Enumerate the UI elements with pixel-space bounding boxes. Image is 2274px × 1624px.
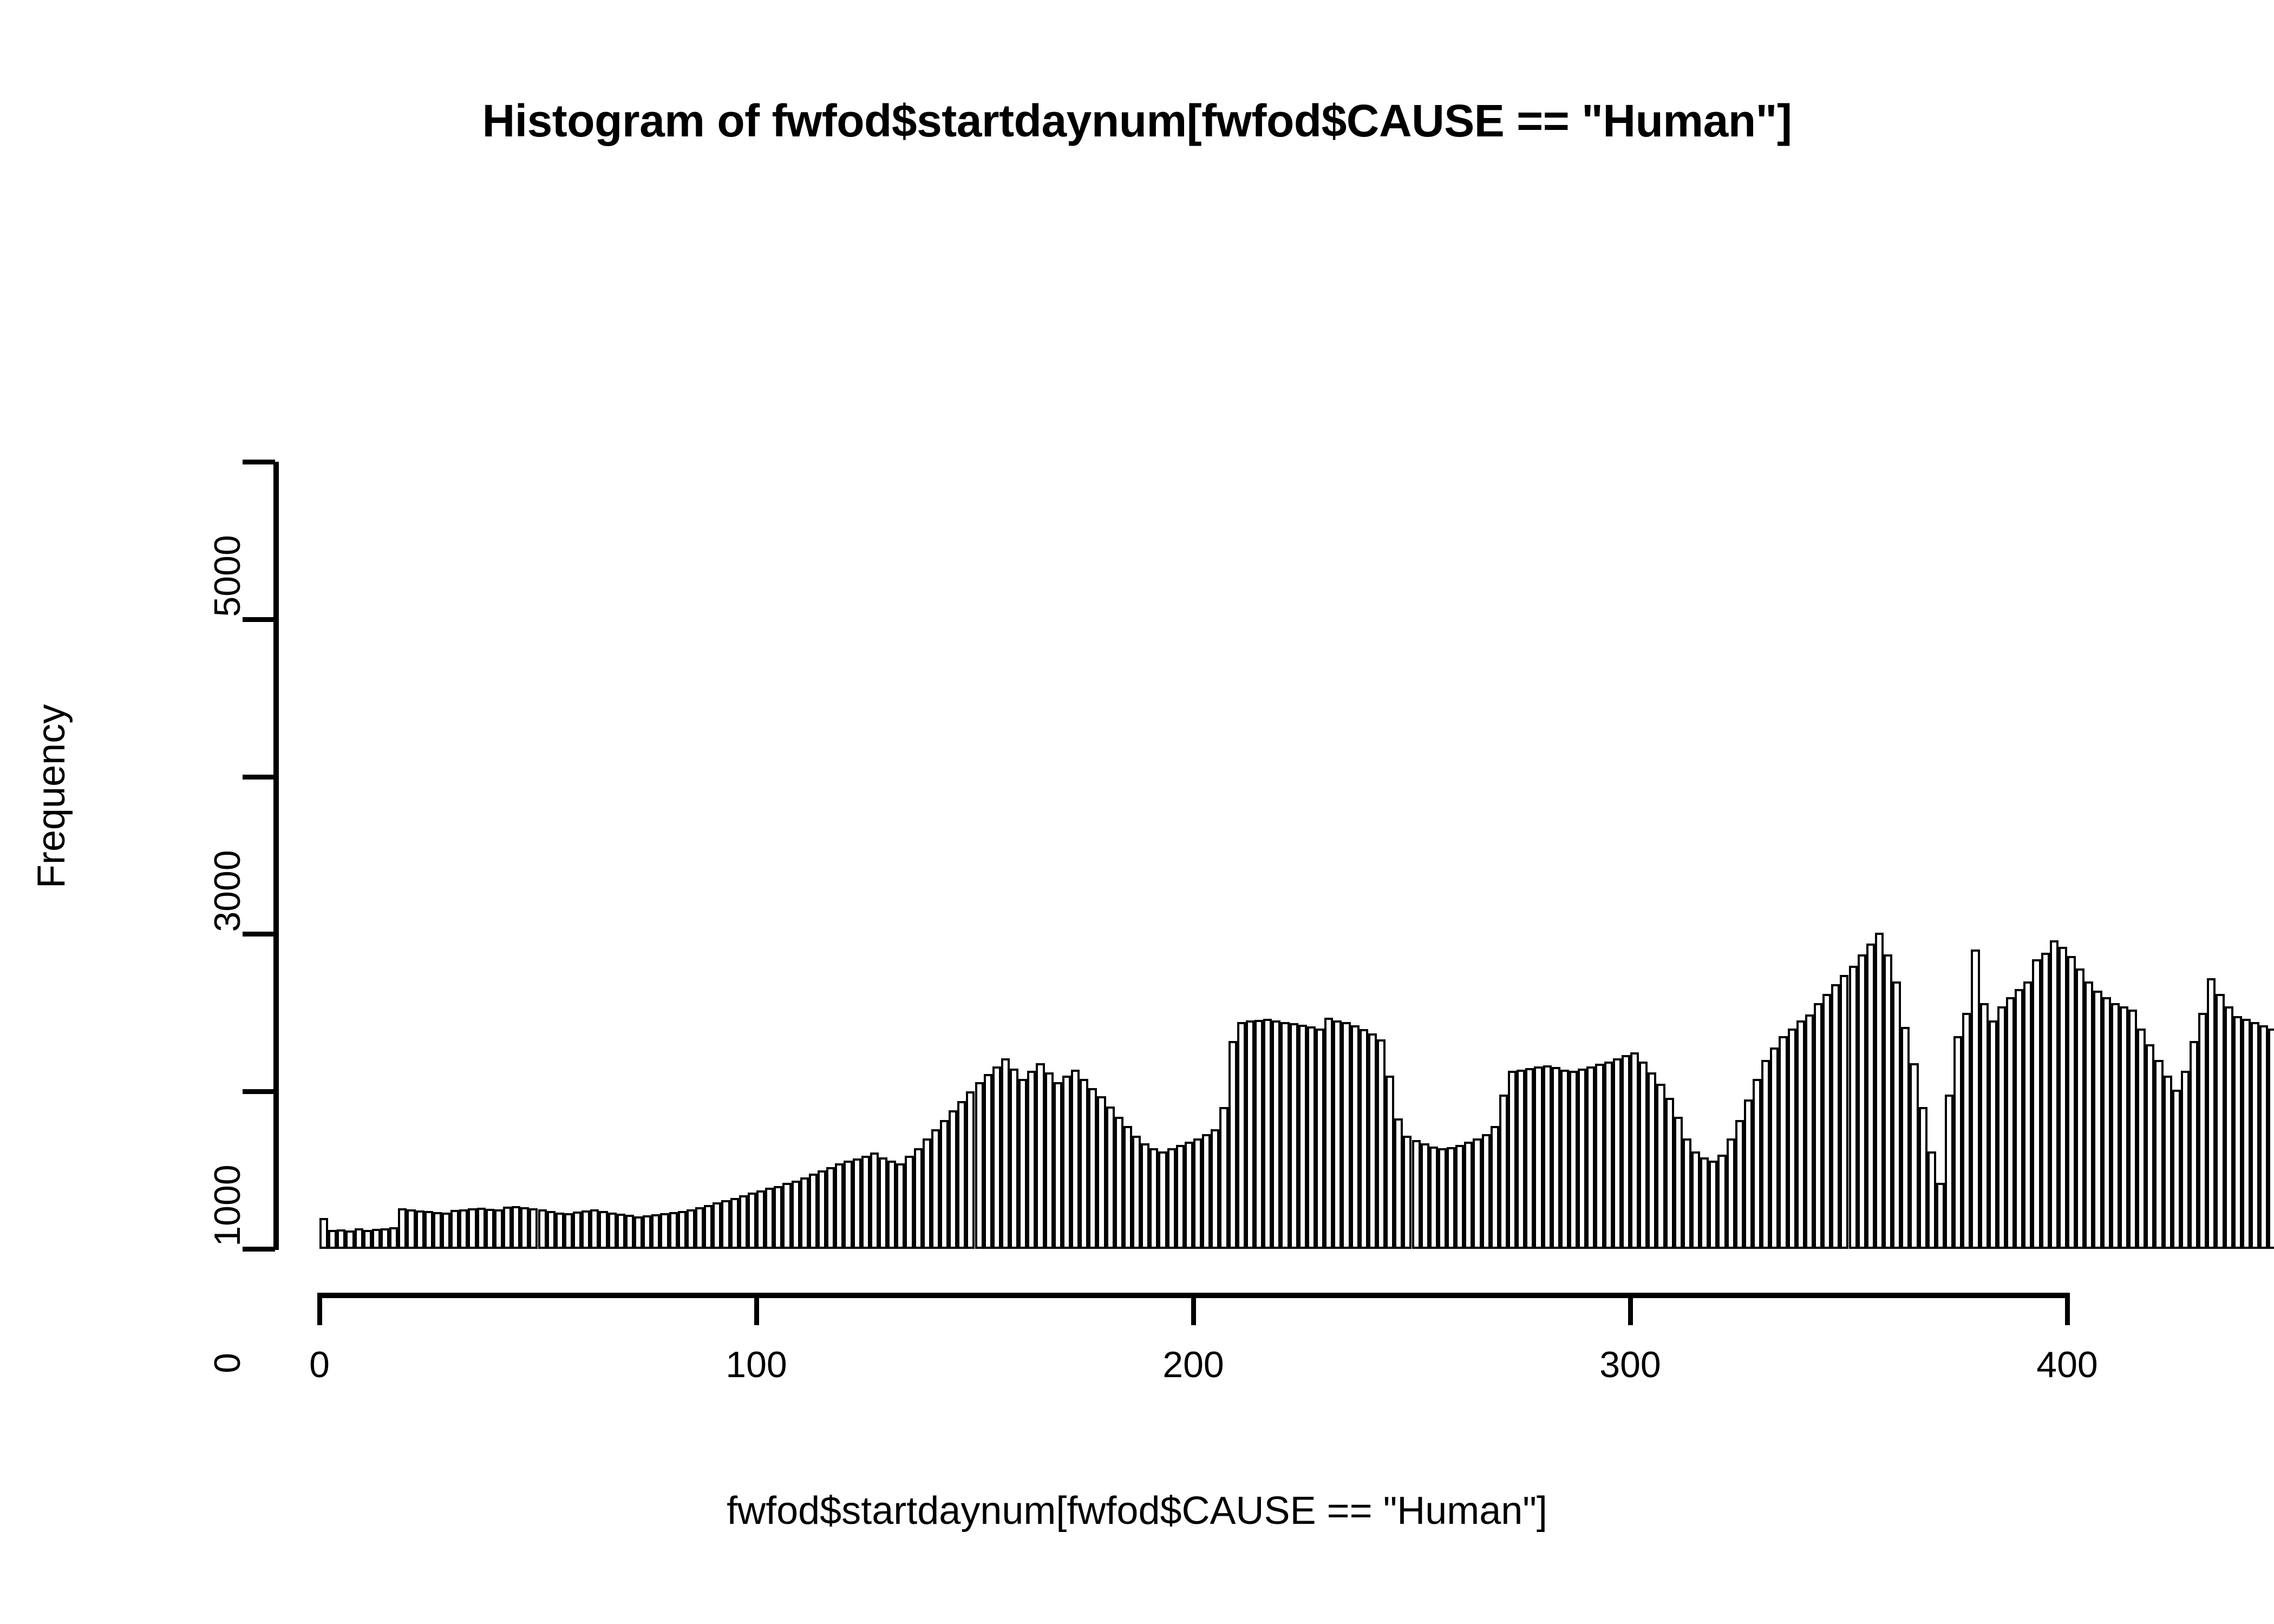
histogram-bar [529,1208,538,1249]
histogram-bar [792,1181,800,1249]
histogram-bar [407,1209,415,1249]
histogram-bar [800,1177,809,1249]
histogram-bar [2067,956,2076,1249]
histogram-bar [1875,933,1884,1249]
histogram-bar [1219,1107,1228,1249]
histogram-bar [345,1230,354,1249]
histogram-bar [1508,1071,1517,1249]
histogram-bar [1796,1020,1805,1249]
histogram-bars [319,462,2068,1249]
histogram-bar [1866,944,1875,1249]
histogram-bar [2164,1076,2172,1249]
histogram-bar [2207,978,2216,1249]
histogram-bar [1499,1095,1508,1249]
histogram-bar [2032,959,2041,1249]
x-tick-300 [1628,1293,1633,1325]
histogram-bar [2233,1016,2242,1249]
histogram-bar [1115,1117,1123,1249]
histogram-bar [2216,994,2224,1249]
x-tick-200 [1191,1293,1196,1325]
histogram-bar [931,1129,940,1249]
histogram-bar [433,1212,442,1249]
histogram-bar [1691,1151,1700,1249]
histogram-bar [1429,1147,1438,1249]
histogram-bar [1211,1129,1219,1249]
histogram-bar [1840,975,1848,1249]
histogram-bar [599,1211,607,1249]
histogram-bar [923,1138,931,1249]
histogram-bar [2059,947,2067,1249]
histogram-bar [581,1210,590,1249]
histogram-bar [2181,1071,2190,1249]
histogram-bar [468,1208,476,1249]
histogram-bar [617,1214,625,1249]
page-title: Histogram of fwfod$startdaynum[fwfod$CAU… [0,95,2274,147]
histogram-bar [782,1183,791,1249]
histogram-bar [450,1210,459,1249]
histogram-bar [503,1207,512,1249]
histogram-bar [1351,1025,1360,1249]
histogram-bar [1036,1063,1044,1249]
histogram-bar [1307,1026,1316,1249]
histogram-bar [1910,1063,1918,1249]
histogram-bar [1683,1138,1691,1249]
histogram-bar [442,1213,450,1249]
histogram-bar [1141,1143,1149,1249]
histogram-bar [2120,1006,2128,1249]
histogram-bar [2050,940,2059,1249]
histogram-bar [398,1208,407,1249]
histogram-bar [1892,981,1901,1249]
histogram-bar [477,1208,486,1249]
histogram-bar [1360,1029,1368,1249]
histogram-bar [1377,1039,1386,1249]
histogram-bar [1455,1145,1464,1249]
histogram-bar [1578,1069,1586,1249]
histogram-bar [2015,989,2023,1249]
histogram-bar [1158,1151,1167,1249]
histogram-bar [984,1074,992,1249]
histogram-bar [1788,1029,1796,1249]
histogram-bar [1630,1052,1639,1249]
histogram-bar [1709,1161,1717,1249]
histogram-bar [957,1101,966,1249]
histogram-bar [1280,1022,1289,1249]
histogram-bar [687,1209,695,1249]
histogram-bar [1622,1055,1630,1249]
histogram-bar [1132,1136,1141,1249]
histogram-bar [2111,1003,2120,1249]
histogram-bar [818,1170,826,1249]
histogram-bar [774,1186,782,1249]
histogram-bar [1997,1006,2006,1249]
histogram-bar [1639,1062,1648,1249]
histogram-bar [905,1156,913,1249]
histogram-bar [660,1213,669,1249]
histogram-bar [1290,1023,1298,1249]
histogram-bar [564,1213,573,1249]
histogram-bar [363,1230,372,1249]
histogram-bar [1989,1020,1997,1249]
histogram-bar [1412,1140,1421,1249]
histogram-bar [2137,1029,2146,1249]
histogram-bar [328,1230,337,1249]
histogram-bar [1123,1126,1132,1249]
histogram-bar [337,1229,345,1249]
histogram-bar [2259,1025,2268,1249]
x-tick-label-200: 200 [1112,1344,1275,1386]
y-axis-label: Frequency [29,607,74,986]
histogram-bar [1185,1142,1193,1249]
histogram-bar [949,1110,957,1249]
histogram-bar [809,1174,818,1249]
histogram-bar [1263,1019,1272,1249]
histogram-bar [1097,1096,1106,1249]
histogram-bar [625,1215,634,1249]
histogram-bar [1272,1020,1280,1249]
histogram-bar [721,1200,730,1249]
histogram-bar [992,1066,1001,1249]
histogram-bar [520,1207,529,1249]
histogram-bar [1560,1070,1569,1249]
histogram-bar [853,1158,861,1249]
histogram-bar [1936,1183,1945,1249]
x-tick-0 [317,1293,322,1325]
histogram-bar [1368,1033,1377,1249]
histogram-bar [1298,1025,1307,1249]
histogram-bar [2154,1060,2163,1249]
histogram-bar [389,1227,398,1249]
histogram-bar [1027,1071,1036,1249]
histogram-bar [1569,1071,1578,1249]
histogram-bar [1595,1064,1604,1249]
histogram-bar [608,1213,617,1249]
histogram-bar [1919,1107,1927,1249]
histogram-bar [1229,1041,1237,1249]
histogram-bar [1517,1070,1525,1249]
histogram-bar [459,1209,468,1249]
histogram-bar [1421,1143,1429,1249]
histogram-bar [887,1161,896,1249]
histogram-bar [1971,949,1979,1249]
histogram-bar [2023,981,2032,1249]
histogram-bar [896,1163,905,1249]
histogram-bar [486,1209,494,1249]
histogram-bar [695,1207,704,1249]
histogram-bar [2102,997,2111,1249]
histogram-bar [713,1202,721,1249]
x-tick-400 [2065,1293,2070,1325]
histogram-bar [1438,1148,1447,1249]
histogram-bar [1980,1003,1989,1249]
histogram-bar [372,1229,381,1249]
histogram-bar [1176,1145,1185,1249]
histogram-bar [1717,1155,1726,1249]
histogram-bar [678,1211,687,1249]
x-axis-label: fwfod$startdaynum[fwfod$CAUSE == "Human"… [0,1489,2274,1533]
histogram-bar [1149,1148,1158,1249]
histogram-bar [512,1206,520,1249]
histogram-bar [1534,1066,1543,1249]
histogram-bar [1805,1014,1814,1249]
histogram-bar [748,1193,756,1249]
histogram-bar [1849,966,1858,1249]
histogram-bar [730,1198,739,1249]
histogram-bar [1700,1157,1709,1249]
histogram-bar [1953,1036,1962,1249]
histogram-bar [1045,1072,1054,1249]
x-tick-label-300: 300 [1549,1344,1711,1386]
histogram-bar [1473,1138,1481,1249]
histogram-bar [2251,1022,2259,1249]
histogram-bar [2146,1044,2154,1249]
histogram-bar [870,1152,879,1249]
histogram-bar [1927,1151,1936,1249]
histogram-bar [1735,1120,1744,1249]
y-tick-label-1000: 1000 [206,1092,249,1319]
histogram-bar [1324,1018,1333,1249]
histogram-bar [1884,954,1892,1249]
histogram-bar [1744,1099,1753,1249]
histogram-bar [2128,1010,2137,1249]
histogram-bar [1080,1079,1088,1249]
histogram-bar [1001,1058,1010,1249]
histogram-bar [2172,1090,2181,1249]
histogram-bar [1648,1072,1656,1249]
plot-panel [319,462,2068,1249]
histogram-bar [416,1210,424,1249]
histogram-bar [1822,994,1831,1249]
histogram-bar [835,1163,844,1249]
histogram-bar [1858,954,1866,1249]
histogram-bar [1342,1022,1350,1249]
histogram-bar [1018,1079,1027,1249]
histogram-bar [1901,1027,1910,1249]
histogram-bar [1167,1148,1176,1249]
histogram-bar [1246,1020,1254,1249]
histogram-bar [1482,1134,1491,1249]
histogram-bar [2006,997,2015,1249]
histogram-bar [1674,1117,1683,1249]
histogram-bar [2198,1013,2207,1249]
histogram-bar [1062,1076,1071,1249]
histogram-bar [634,1216,643,1249]
histogram-bar [590,1209,599,1249]
histogram-bar [704,1205,713,1249]
histogram-bar [547,1211,556,1249]
histogram-bar [2225,1006,2233,1249]
histogram-bar [1403,1136,1412,1249]
histogram-bar [1071,1070,1080,1249]
histogram-bar [1586,1066,1595,1249]
histogram-bar [643,1215,651,1249]
histogram-bar [1962,1013,1971,1249]
histogram-bar [1237,1022,1246,1249]
histogram-bar [494,1209,503,1249]
histogram-bar [669,1212,678,1249]
histogram-bar [319,1218,328,1249]
histogram-bar [1665,1098,1674,1249]
histogram-bar [1447,1147,1455,1249]
histogram-bar [765,1188,774,1249]
histogram-bar [2093,991,2102,1249]
histogram-bar [1727,1138,1735,1249]
histogram-bar [2268,1029,2274,1249]
histogram-bar [2242,1019,2251,1249]
histogram-bar [826,1167,835,1249]
histogram-bar [914,1148,923,1249]
histogram-bar [1604,1062,1613,1249]
histogram-bar [1464,1142,1473,1249]
histogram-bar [1394,1118,1403,1249]
histogram-bar [1761,1060,1770,1249]
histogram-bar [1543,1065,1552,1249]
histogram-bar [1552,1067,1560,1249]
histogram-bar [739,1195,748,1249]
histogram-bar [1202,1134,1211,1249]
histogram-bar [2076,968,2084,1249]
r-histogram-plot: Histogram of fwfod$startdaynum[fwfod$CAU… [0,0,2274,1624]
histogram-bar [556,1213,564,1249]
y-tick-label-3000: 3000 [206,777,249,1005]
histogram-bar [2084,981,2093,1249]
histogram-bar [538,1209,547,1249]
x-tick-100 [754,1293,759,1325]
x-tick-label-0: 0 [238,1344,401,1386]
histogram-bar [355,1228,363,1249]
histogram-bar [966,1091,975,1249]
histogram-bar [381,1228,389,1249]
histogram-bar [2190,1041,2198,1249]
histogram-bar [1386,1076,1394,1249]
histogram-bar [975,1082,984,1249]
histogram-bar [1010,1069,1018,1249]
histogram-bar [1106,1106,1115,1249]
histogram-bar [756,1190,765,1249]
histogram-bar [1254,1020,1263,1249]
histogram-bar [1945,1095,1953,1249]
y-tick-label-5000: 5000 [206,462,249,690]
histogram-bar [844,1161,852,1249]
histogram-bar [1316,1029,1324,1249]
histogram-bar [940,1120,949,1249]
histogram-bar [1525,1068,1534,1249]
histogram-bar [1193,1138,1202,1249]
histogram-bar [879,1157,887,1249]
histogram-bar [861,1156,870,1249]
histogram-bar [1491,1126,1499,1249]
histogram-bar [1656,1084,1665,1249]
histogram-bar [1814,1003,1822,1249]
x-tick-label-400: 400 [1986,1344,2148,1386]
histogram-bar [1613,1058,1622,1249]
histogram-bar [424,1211,433,1249]
x-tick-label-100: 100 [675,1344,838,1386]
histogram-bar [573,1212,581,1249]
histogram-bar [2041,953,2050,1249]
histogram-bar [1088,1088,1097,1249]
histogram-bar [1333,1020,1342,1249]
histogram-bar [1770,1047,1779,1249]
histogram-bar [1779,1036,1787,1249]
histogram-bar [1753,1079,1761,1249]
histogram-bar [1054,1082,1062,1249]
histogram-bar [1831,984,1840,1249]
y-axis-line [273,462,279,1250]
histogram-bar [651,1214,660,1249]
